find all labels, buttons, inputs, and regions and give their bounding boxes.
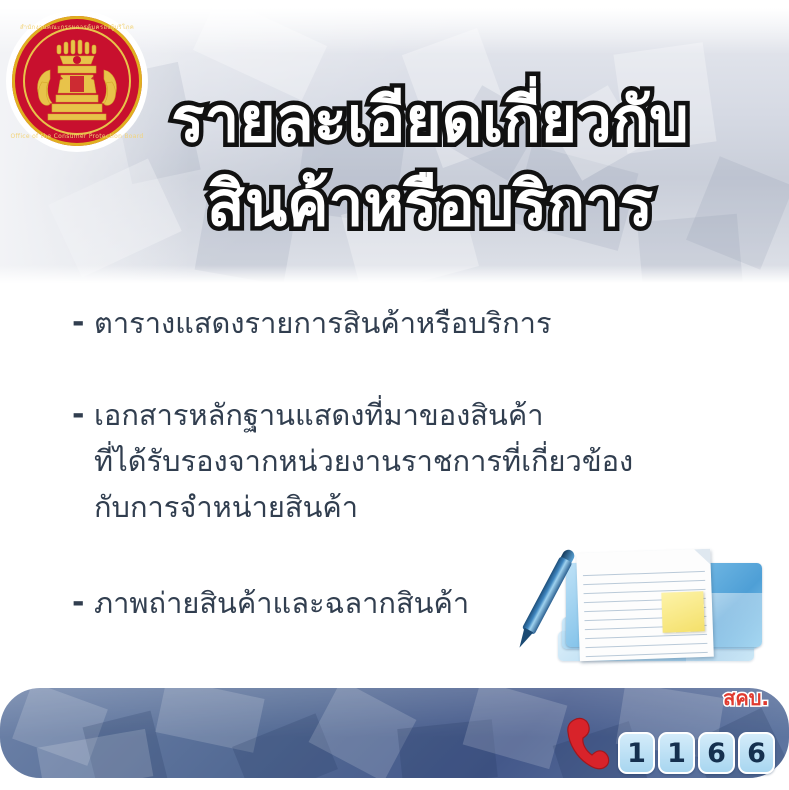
hotline-digit: 1	[618, 732, 655, 774]
hotline-number: 1 1 6 6	[618, 732, 775, 774]
sticky-note	[661, 591, 704, 632]
header-bottom-fade	[0, 265, 789, 283]
logo-text-thai: สำนักงานคณะกรรมการคุ้มครองผู้บริโภค	[6, 22, 148, 32]
hotline-agency-label: สคบ.	[723, 682, 769, 714]
bullet-text: เอกสารหลักฐานแสดงที่มาของสินค้า ที่ได้รั…	[94, 392, 749, 530]
logo-text-english: Office of the Consumer Protection Board	[6, 133, 148, 140]
poster-root: รายละเอียดเกี่ยวกับ สินค้าหรือบริการ	[0, 0, 789, 790]
garuda-emblem-icon	[30, 36, 124, 126]
bullet-line: เอกสารหลักฐานแสดงที่มาของสินค้า	[94, 392, 749, 438]
list-item: - เอกสารหลักฐานแสดงที่มาของสินค้า ที่ได้…	[0, 392, 789, 530]
page-title: รายละเอียดเกี่ยวกับ สินค้าหรือบริการ	[150, 78, 710, 246]
hotline-digit: 1	[658, 732, 695, 774]
notebook-with-pen-illustration	[540, 535, 775, 685]
hotline-badge[interactable]: 1 1 6 6 สคบ.	[564, 704, 775, 774]
title-line-2: สินค้าหรือบริการ	[150, 162, 710, 246]
phone-handset-icon	[564, 714, 616, 774]
bullet-dash: -	[72, 392, 94, 530]
bullet-text: ตารางแสดงรายการสินค้าหรือบริการ	[94, 300, 749, 346]
bullet-dash: -	[72, 300, 94, 346]
title-line-1: รายละเอียดเกี่ยวกับ	[150, 78, 710, 162]
bullet-line: ที่ได้รับรองจากหน่วยงานราชการที่เกี่ยวข้…	[94, 438, 749, 484]
paper-fold-corner	[694, 549, 711, 566]
hotline-digit: 6	[698, 732, 735, 774]
bullet-dash: -	[72, 580, 94, 626]
hotline-digit: 6	[738, 732, 775, 774]
bullet-line: ตารางแสดงรายการสินค้าหรือบริการ	[94, 300, 749, 346]
list-item: - ตารางแสดงรายการสินค้าหรือบริการ	[0, 300, 789, 346]
ocpb-seal-logo: สำนักงานคณะกรรมการคุ้มครองผู้บริโภค Offi…	[6, 10, 148, 152]
bullet-line: กับการจำหน่ายสินค้า	[94, 484, 749, 530]
